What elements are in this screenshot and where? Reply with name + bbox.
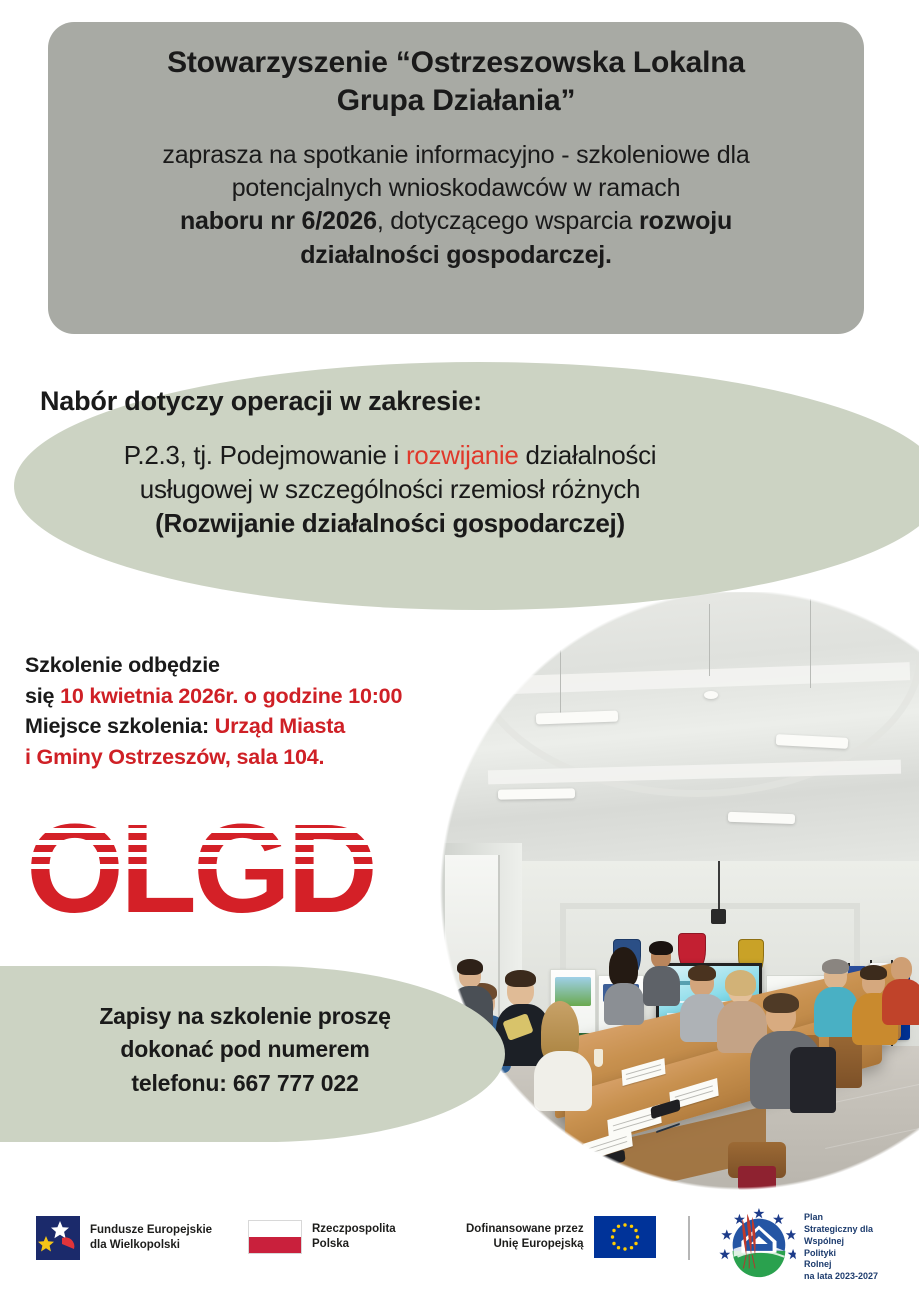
body-line-1: zaprasza na spotkanie informacyjno - szk… bbox=[88, 139, 824, 172]
lamp-wire bbox=[709, 604, 710, 676]
eu-flag-icon bbox=[594, 1216, 656, 1258]
scope-body: P.2.3, tj. Podejmowanie i rozwijanie dzi… bbox=[40, 439, 740, 540]
details-line-1: Szkolenie odbędzie bbox=[25, 650, 455, 681]
fundusze-europejskie-icon bbox=[36, 1216, 80, 1260]
logo-dofinansowane-ue: Dofinansowane przez Unię Europejską bbox=[466, 1216, 656, 1258]
body-line-4-text: działalności gospodarczej. bbox=[300, 241, 612, 269]
chair-seat bbox=[738, 1166, 776, 1190]
training-datetime: 10 kwietnia 2026r. o godzine 10:00 bbox=[60, 684, 402, 708]
header-box: Stowarzyszenie “Ostrzeszowska Lokalna Gr… bbox=[48, 22, 864, 334]
footer-logos: Fundusze Europejskie dla Wielkopolski Rz… bbox=[0, 1194, 919, 1300]
logo-dofinansowane-ue-label: Dofinansowane przez Unię Europejską bbox=[466, 1222, 584, 1251]
body-line-2: potencjalnych wnioskodawców w ramach bbox=[88, 172, 824, 205]
footer-divider bbox=[688, 1216, 690, 1260]
wpr-emblem-icon bbox=[718, 1206, 796, 1289]
details-line-4: i Gminy Ostrzeszów, sala 104. bbox=[25, 742, 455, 773]
title-line-2: Grupa Działania” bbox=[88, 82, 824, 120]
header-body: zaprasza na spotkanie informacyjno - szk… bbox=[88, 139, 824, 272]
scope-line-1-post: działalności bbox=[519, 440, 657, 470]
body-line-3: naboru nr 6/2026, dotyczącego wsparcia r… bbox=[88, 205, 824, 238]
training-venue-cont: i Gminy Ostrzeszów, sala 104. bbox=[25, 745, 324, 769]
training-venue: Urząd Miasta bbox=[215, 714, 345, 738]
lamp-wire bbox=[560, 622, 561, 718]
training-details: Szkolenie odbędzie się 10 kwietnia 2026r… bbox=[25, 650, 455, 772]
scope-line-3: (Rozwijanie działalności gospodarczej) bbox=[40, 507, 740, 541]
scope-line-2: usługowej w szczególności rzemiosł różny… bbox=[40, 473, 740, 507]
polish-flag-icon bbox=[248, 1220, 302, 1254]
logo-rzeczpospolita-polska: Rzeczpospolita Polska bbox=[248, 1220, 396, 1254]
details-line-3-label: Miejsce szkolenia: bbox=[25, 714, 215, 738]
scope-section: Nabór dotyczy operacji w zakresie: P.2.3… bbox=[40, 386, 800, 540]
photo-content bbox=[440, 592, 919, 1190]
logo-plan-strategiczny-label: Plan Strategiczny dla Wspólnej Polityki … bbox=[804, 1212, 878, 1283]
signup-line-2: dokonać pod numerem bbox=[40, 1033, 450, 1066]
olgd-logo-svg: OLGD bbox=[26, 808, 416, 926]
call-number: naboru nr 6/2026 bbox=[180, 207, 377, 235]
olgd-logo: OLGD bbox=[26, 808, 416, 926]
body-line-3-plain: , dotyczącego wsparcia bbox=[377, 207, 639, 235]
projector-mount bbox=[718, 861, 720, 915]
olgd-wordmark: OLGD bbox=[26, 808, 374, 926]
signup-info: Zapisy na szkolenie proszę dokonać pod n… bbox=[40, 1000, 450, 1100]
poster-page: Stowarzyszenie “Ostrzeszowska Lokalna Gr… bbox=[0, 0, 919, 1300]
body-line-3-bold2: rozwoju bbox=[639, 207, 732, 235]
ceiling-lamp bbox=[498, 789, 575, 800]
scope-line-1: P.2.3, tj. Podejmowanie i rozwijanie dzi… bbox=[40, 439, 740, 473]
jacket-on-chair bbox=[790, 1047, 836, 1113]
logo-rzeczpospolita-polska-label: Rzeczpospolita Polska bbox=[312, 1222, 396, 1251]
body-line-4: działalności gospodarczej. bbox=[88, 239, 824, 272]
projector bbox=[711, 909, 725, 924]
meeting-photo bbox=[440, 592, 919, 1190]
page-title: Stowarzyszenie “Ostrzeszowska Lokalna Gr… bbox=[88, 44, 824, 121]
title-line-1: Stowarzyszenie “Ostrzeszowska Lokalna bbox=[88, 44, 824, 82]
signup-line-1: Zapisy na szkolenie proszę bbox=[40, 1000, 450, 1033]
scope-line-1-pre: P.2.3, tj. Podejmowanie i bbox=[124, 440, 406, 470]
signup-phone-line: telefonu: 667 777 022 bbox=[40, 1067, 450, 1100]
logo-plan-strategiczny-wpr: Plan Strategiczny dla Wspólnej Polityki … bbox=[718, 1206, 878, 1289]
details-line-2: się 10 kwietnia 2026r. o godzine 10:00 bbox=[25, 681, 455, 712]
scope-title: Nabór dotyczy operacji w zakresie: bbox=[40, 386, 800, 417]
scope-line-3-text: (Rozwijanie działalności gospodarczej) bbox=[155, 508, 625, 538]
details-line-3: Miejsce szkolenia: Urząd Miasta bbox=[25, 711, 455, 742]
cup bbox=[594, 1049, 604, 1067]
details-line-2-label: się bbox=[25, 684, 60, 708]
scope-highlight: rozwijanie bbox=[406, 440, 519, 470]
logo-fundusze-europejskie: Fundusze Europejskie dla Wielkopolski bbox=[36, 1216, 212, 1260]
logo-fundusze-europejskie-label: Fundusze Europejskie dla Wielkopolski bbox=[90, 1223, 212, 1252]
lamp-wire bbox=[810, 598, 811, 688]
